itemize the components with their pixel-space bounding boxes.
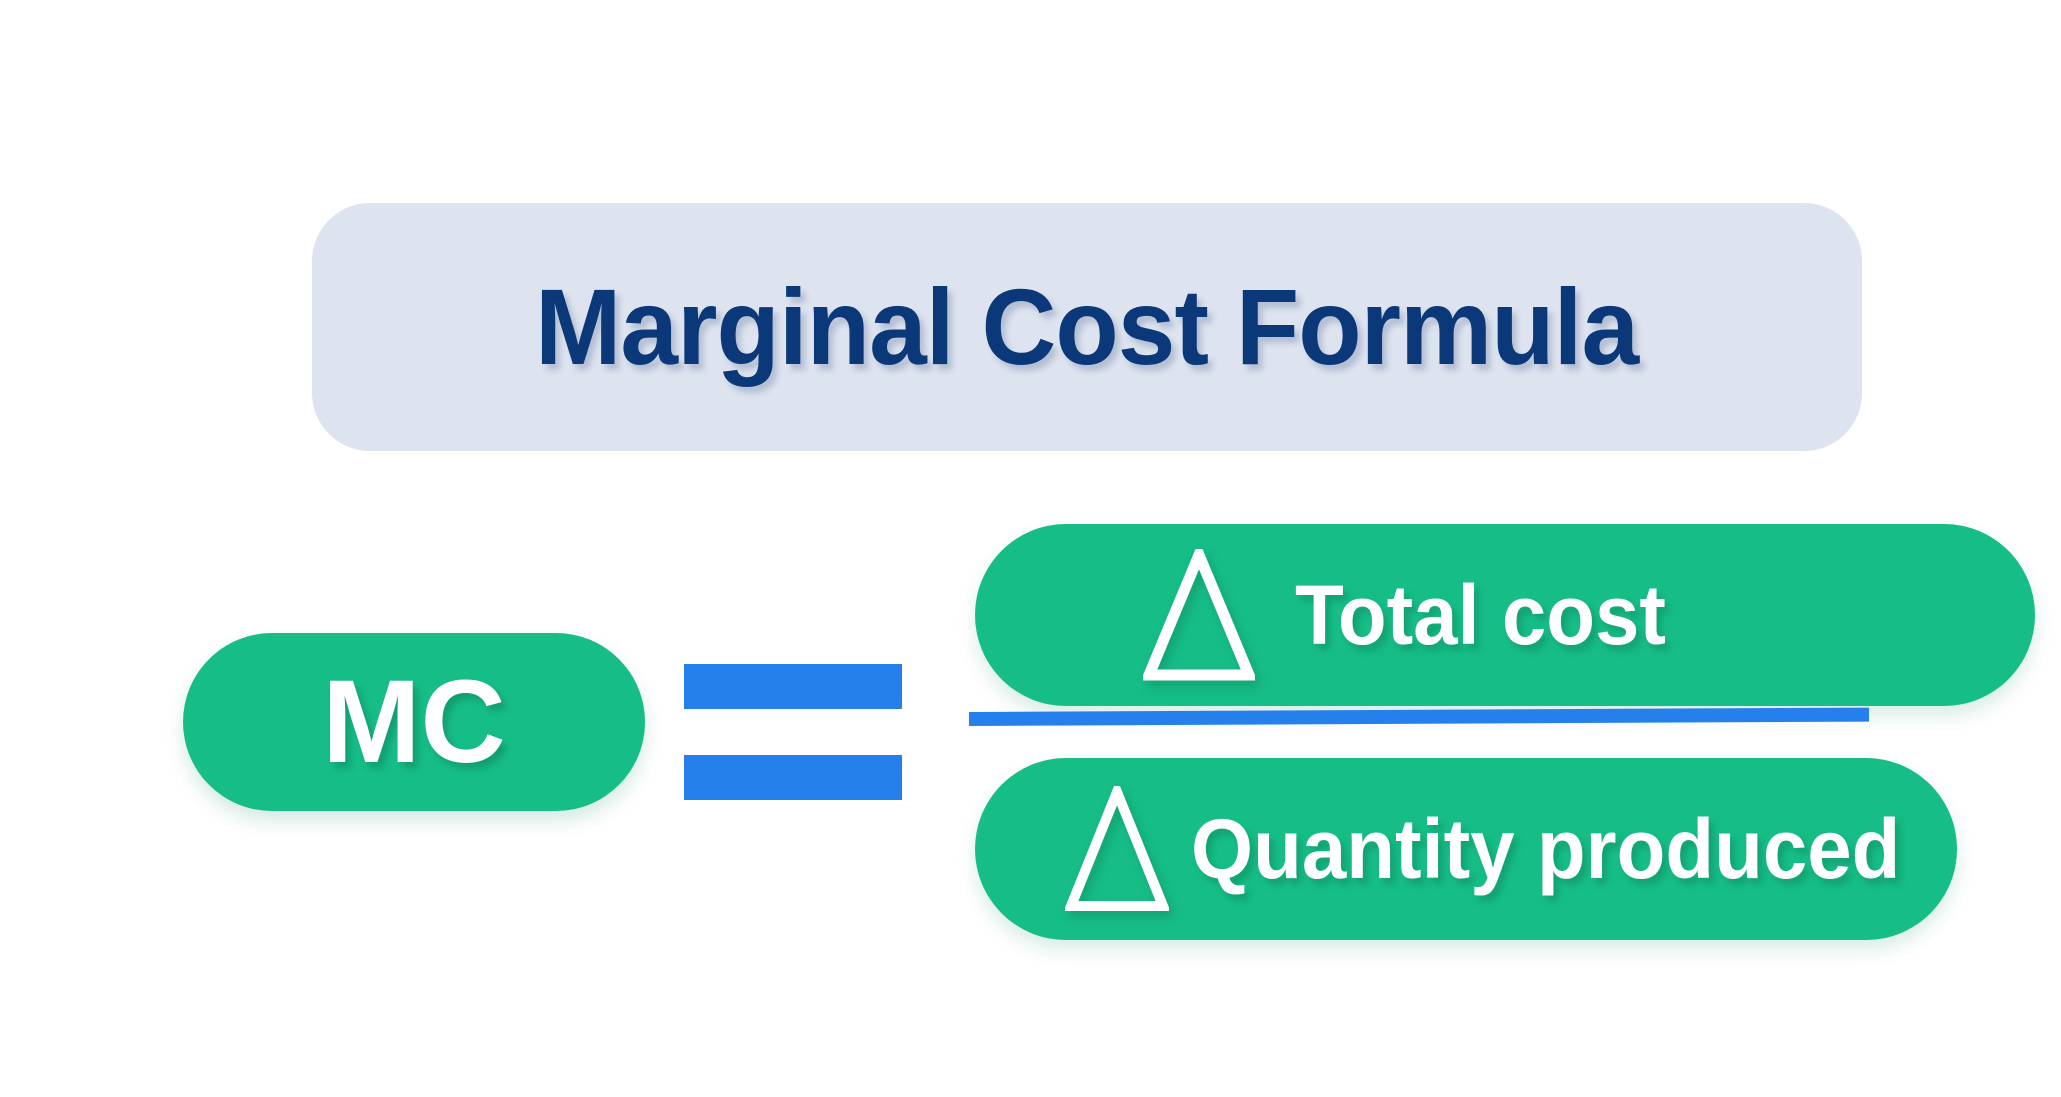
denominator-label: Quantity produced xyxy=(1191,807,1900,891)
marginal-cost-pill: MC xyxy=(183,633,645,811)
formula-row: MC Total cost Quantity produ xyxy=(0,500,2061,970)
page-title: Marginal Cost Formula xyxy=(535,273,1638,381)
numerator-label: Total cost xyxy=(1295,573,1666,657)
fraction-group: Total cost Quantity produced xyxy=(975,500,1867,945)
numerator-pill: Total cost xyxy=(975,524,2035,706)
equals-icon xyxy=(684,664,902,800)
equals-bar-bottom xyxy=(684,755,902,800)
delta-icon xyxy=(1143,549,1255,681)
denominator-pill: Quantity produced xyxy=(975,758,1957,940)
marginal-cost-label: MC xyxy=(322,663,506,781)
equals-bar-top xyxy=(684,664,902,709)
fraction-divider xyxy=(969,708,1869,726)
delta-icon xyxy=(1065,786,1169,912)
title-banner: Marginal Cost Formula xyxy=(312,203,1862,451)
marginal-cost-formula-graphic: Marginal Cost Formula MC Total cost xyxy=(0,0,2061,1097)
